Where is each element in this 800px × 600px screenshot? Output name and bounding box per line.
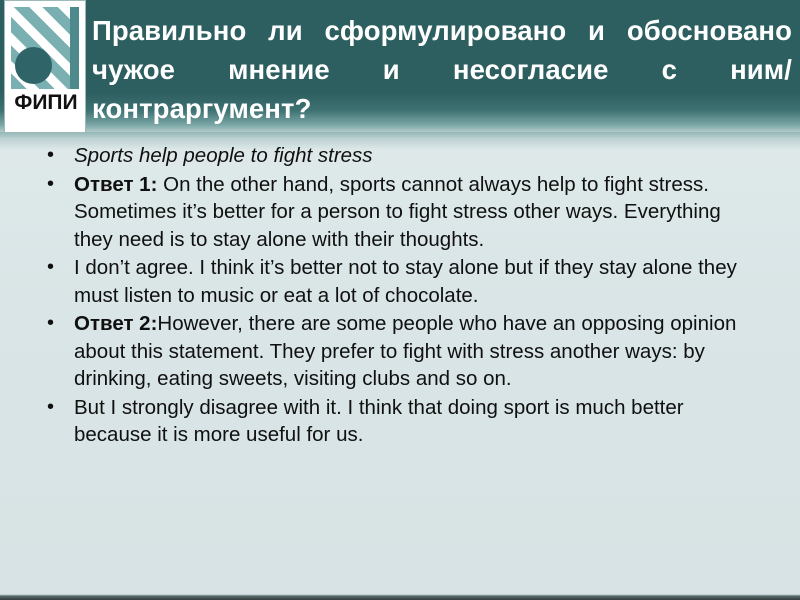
bottom-edge-rule: [0, 595, 800, 600]
list-item: • Ответ 2:However, there are some people…: [36, 310, 762, 393]
list-item: • But I strongly disagree with it. I thi…: [36, 394, 762, 449]
logo-right-bar: [70, 7, 79, 89]
bullet-icon: •: [47, 171, 54, 199]
list-item-lead: Ответ 1:: [74, 173, 157, 196]
list-item-text: Sports help people to fight stress: [74, 142, 762, 170]
slide-body-bullet-list: • Sports help people to fight stress • О…: [36, 142, 762, 450]
bullet-icon: •: [47, 394, 54, 422]
bullet-icon: •: [47, 142, 54, 170]
bullet-icon: •: [47, 254, 54, 282]
list-item-body: However, there are some people who have …: [74, 312, 736, 390]
fipi-logo-wordmark: ФИПИ: [5, 91, 87, 115]
list-item-text: But I strongly disagree with it. I think…: [74, 394, 762, 449]
list-item-body: On the other hand, sports cannot always …: [74, 173, 721, 251]
list-item: • Ответ 1: On the other hand, sports can…: [36, 171, 762, 254]
slide-title: Правильно ли сформулировано и обосновано…: [92, 11, 792, 128]
slide-canvas: ФИПИ Правильно ли сформулировано и обосн…: [0, 0, 800, 600]
list-item-text: Ответ 1: On the other hand, sports canno…: [74, 171, 762, 254]
list-item-text: I don’t agree. I think it’s better not t…: [74, 254, 762, 309]
list-item: • Sports help people to fight stress: [36, 142, 762, 170]
fipi-logo-mark-icon: [11, 7, 79, 89]
list-item-lead: Ответ 2:: [74, 312, 157, 335]
list-item: • I don’t agree. I think it’s better not…: [36, 254, 762, 309]
list-item-text: Ответ 2:However, there are some people w…: [74, 310, 762, 393]
circle-icon: [15, 47, 52, 84]
fipi-logo: ФИПИ: [4, 0, 86, 133]
bullet-icon: •: [47, 310, 54, 338]
